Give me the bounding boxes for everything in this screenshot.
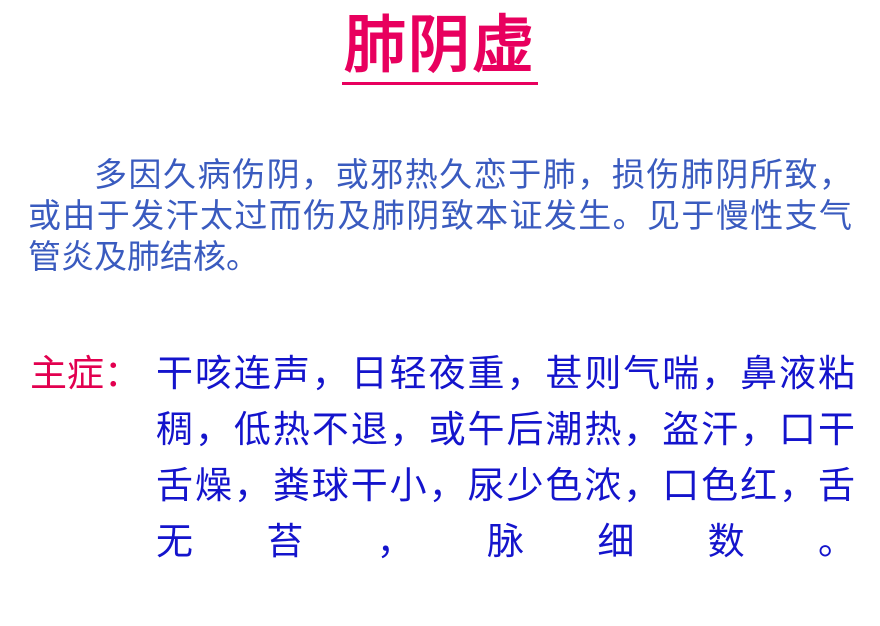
intro-paragraph: 多因久病伤阴，或邪热久恋于肺，损伤肺阴所致，或由于发汗太过而伤及肺阴致本证发生。… <box>28 154 852 277</box>
page-title: 肺阴虚 <box>342 14 538 85</box>
symptoms-text: 干咳连声，日轻夜重，甚则气喘，鼻液粘稠，低热不退，或午后潮热，盗汗，口干舌燥，粪… <box>156 346 855 626</box>
title-row: 肺阴虚 <box>0 14 880 85</box>
symptoms-section: 主症： 干咳连声，日轻夜重，甚则气喘，鼻液粘稠，低热不退，或午后潮热，盗汗，口干… <box>30 346 855 626</box>
symptoms-label: 主症： <box>30 346 143 402</box>
slide-canvas: 肺阴虚 多因久病伤阴，或邪热久恋于肺，损伤肺阴所致，或由于发汗太过而伤及肺阴致本… <box>0 0 880 623</box>
